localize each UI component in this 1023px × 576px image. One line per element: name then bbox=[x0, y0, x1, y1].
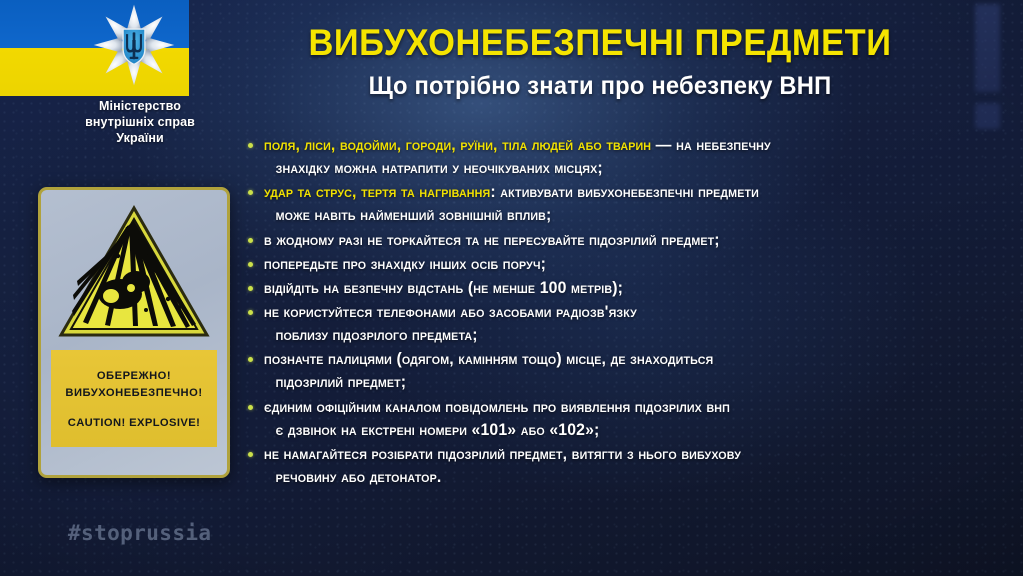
bullet-continuation-line: речовину або детонатор. bbox=[264, 466, 993, 489]
mvs-star-emblem-icon bbox=[92, 3, 176, 87]
bullet-item: Відійдіть на безпечну відстань (не менше… bbox=[246, 277, 1016, 300]
bullet-dot-icon bbox=[248, 286, 253, 291]
bullet-dot-icon bbox=[248, 452, 253, 457]
bullet-item: В жодному разі не торкайтеся та не перес… bbox=[246, 229, 1016, 252]
warning-text-ua: ОБЕРЕЖНО! ВИБУХОНЕБЕЗПЕЧНО! bbox=[65, 368, 202, 400]
bullet-continuation-line: знахідку можна натрапити у неочікуваних … bbox=[264, 157, 993, 180]
bullet-primary-line: Єдиним офіційним каналом повідомлень про… bbox=[264, 396, 993, 419]
bullet-primary-line: Позначте палицями (одягом, камінням тощо… bbox=[264, 348, 993, 371]
bullet-dot-icon bbox=[248, 405, 253, 410]
bullet-highlight-text: Удар та струс, тертя та нагрівання bbox=[264, 183, 490, 201]
bullet-dot-icon bbox=[248, 262, 253, 267]
bullet-continuation-line: підозрілий предмет; bbox=[264, 371, 993, 394]
bullet-item: Удар та струс, тертя та нагрівання: акти… bbox=[246, 181, 1016, 227]
exclamation-dot bbox=[975, 103, 1000, 129]
bullet-dot-icon bbox=[248, 357, 253, 362]
bullet-primary-line: Удар та струс, тертя та нагрівання: акти… bbox=[264, 181, 993, 204]
bullet-item: Єдиним офіційним каналом повідомлень про… bbox=[246, 396, 1016, 442]
bullet-primary-line: Не намагайтеся розібрати підозрілий пред… bbox=[264, 443, 993, 466]
poster-subtitle: Що потрібно знати про небезпеку ВНП bbox=[268, 72, 933, 101]
poster-title: ВИБУХОНЕБЕЗПЕЧНІ ПРЕДМЕТИ bbox=[275, 22, 926, 64]
exclamation-watermark-icon bbox=[971, 4, 1005, 134]
explosive-hazard-triangle-icon bbox=[58, 204, 210, 339]
ministry-line-2: внутрішніх справ bbox=[60, 114, 220, 130]
ministry-line-3: України bbox=[60, 130, 220, 146]
bullet-dot-icon bbox=[248, 190, 253, 195]
infographic-poster: Міністерство внутрішніх справ України ВИ… bbox=[0, 0, 1023, 576]
explosive-warning-sign: ОБЕРЕЖНО! ВИБУХОНЕБЕЗПЕЧНО! CAUTION! EXP… bbox=[38, 187, 230, 478]
ministry-name: Міністерство внутрішніх справ України bbox=[60, 98, 220, 146]
bullet-primary-line: Попередьте про знахідку інших осіб поруч… bbox=[264, 253, 993, 276]
bullet-primary-line: Відійдіть на безпечну відстань (не менше… bbox=[264, 277, 993, 300]
bullet-item: Не користуйтеся телефонами або засобами … bbox=[246, 301, 1016, 347]
bullet-dot-icon bbox=[248, 310, 253, 315]
bullet-body-text: : активувати вибухонебезпечні предмети bbox=[490, 183, 759, 201]
bullet-continuation-line: є дзвінок на екстрені номери «101» або «… bbox=[264, 419, 993, 442]
exclamation-bar bbox=[975, 4, 1000, 92]
bullet-dot-icon bbox=[248, 143, 253, 148]
bullet-dot-icon bbox=[248, 238, 253, 243]
bullet-continuation-line: поблизу підозрілого предмета; bbox=[264, 324, 993, 347]
bullet-item: Не намагайтеся розібрати підозрілий пред… bbox=[246, 443, 1016, 489]
ministry-line-1: Міністерство bbox=[60, 98, 220, 114]
bullet-highlight-text: Поля, ліси, водойми, городи, руїни, тіла… bbox=[264, 136, 651, 154]
bullet-body-text: — на небезпечну bbox=[651, 136, 771, 154]
bullet-item: Поля, ліси, водойми, городи, руїни, тіла… bbox=[246, 134, 1016, 180]
bullet-item: Позначте палицями (одягом, камінням тощо… bbox=[246, 348, 1016, 394]
bullet-continuation-line: може навіть найменший зовнішній вплив; bbox=[264, 204, 993, 227]
warning-ua-line-1: ОБЕРЕЖНО! bbox=[65, 368, 202, 384]
bullet-item: Попередьте про знахідку інших осіб поруч… bbox=[246, 253, 1016, 276]
safety-instructions-list: Поля, ліси, водойми, городи, руїни, тіла… bbox=[246, 134, 1016, 490]
bullet-primary-line: В жодному разі не торкайтеся та не перес… bbox=[264, 229, 993, 252]
bullet-primary-line: Поля, ліси, водойми, городи, руїни, тіла… bbox=[264, 134, 993, 157]
bullet-primary-line: Не користуйтеся телефонами або засобами … bbox=[264, 301, 993, 324]
warning-text-panel: ОБЕРЕЖНО! ВИБУХОНЕБЕЗПЕЧНО! CAUTION! EXP… bbox=[51, 350, 217, 447]
stoprussia-watermark: #stoprussia bbox=[68, 521, 211, 545]
warning-text-en: CAUTION! EXPLOSIVE! bbox=[68, 417, 201, 429]
warning-ua-line-2: ВИБУХОНЕБЕЗПЕЧНО! bbox=[65, 385, 202, 401]
